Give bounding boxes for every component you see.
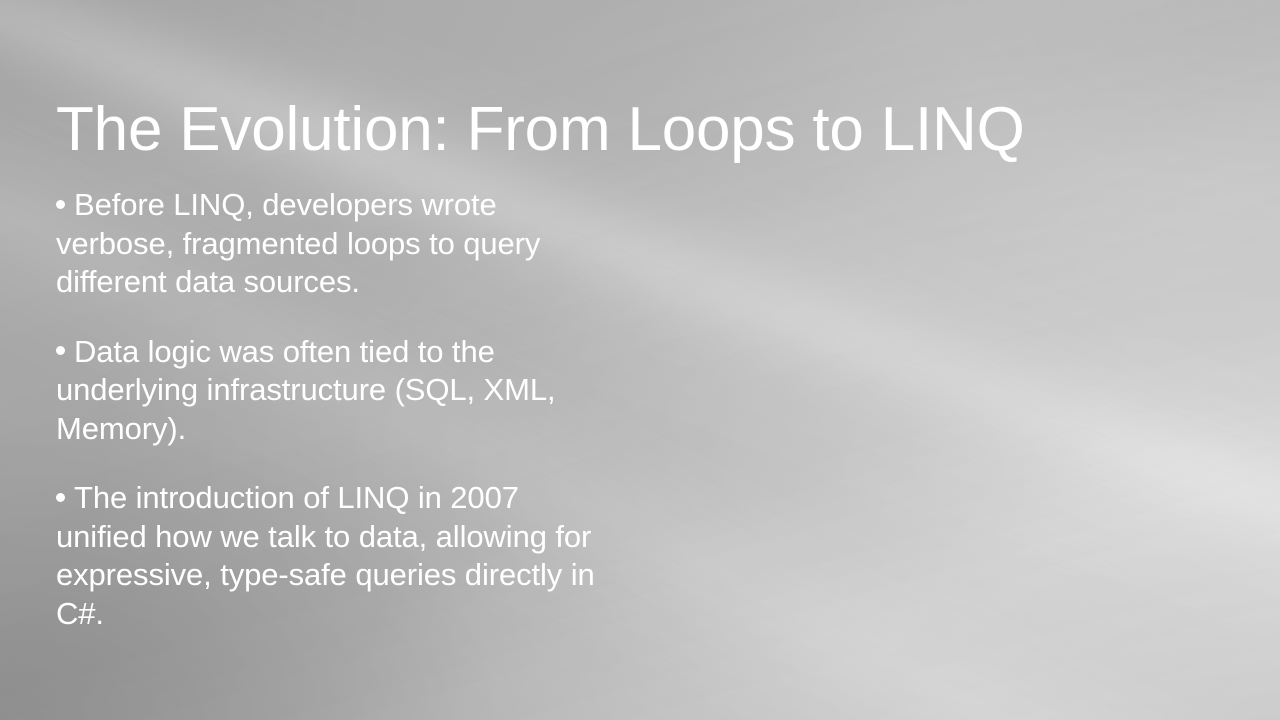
bullet-dot-icon xyxy=(56,493,65,502)
slide-content: The Evolution: From Loops to LINQ Before… xyxy=(0,0,1280,720)
bullet-dot-icon xyxy=(56,200,65,209)
bullet-item-2: Data logic was often tied to the underly… xyxy=(56,333,616,449)
bullet-item-3: The introduction of LINQ in 2007 unified… xyxy=(56,479,616,633)
bullet-dot-icon xyxy=(56,346,65,355)
bullet-item-2-text: Data logic was often tied to the underly… xyxy=(56,334,556,446)
bullet-item-1: Before LINQ, developers wrote verbose, f… xyxy=(56,186,616,302)
bullet-list: Before LINQ, developers wrote verbose, f… xyxy=(56,155,616,633)
presentation-slide: The Evolution: From Loops to LINQ Before… xyxy=(0,0,1280,720)
bullet-item-3-text: The introduction of LINQ in 2007 unified… xyxy=(56,480,595,631)
bullet-item-1-text: Before LINQ, developers wrote verbose, f… xyxy=(56,187,540,299)
